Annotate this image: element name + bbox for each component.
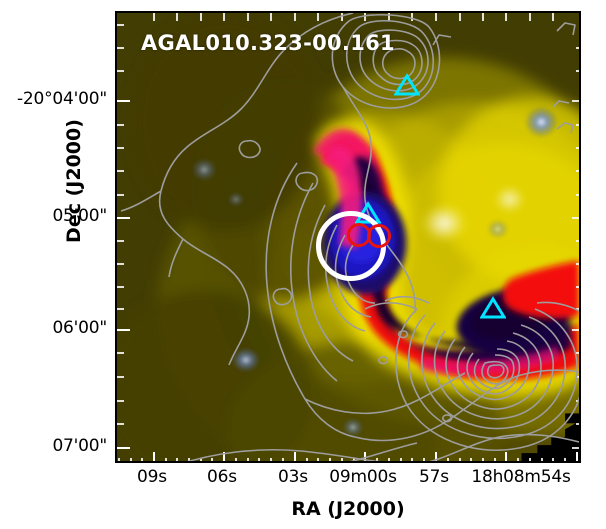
image-plot-area[interactable]: AGAL010.323-00.161 — [115, 11, 581, 463]
x-tick-label-0: 09s — [122, 467, 182, 487]
figure-root: -20°04'00" 05'00" 06'00" 07'00" Dec (J20… — [0, 0, 606, 529]
x-tick-label-3: 09m00s — [313, 467, 413, 487]
y-tick-label-2: 06'00" — [4, 318, 107, 338]
x-tick-label-4: 57s — [404, 467, 464, 487]
x-tick-label-1: 06s — [192, 467, 252, 487]
y-tick-label-1: 05'00" — [4, 206, 107, 226]
cyan-triangle-southwest-icon[interactable] — [480, 296, 506, 320]
y-axis-title: Dec (J2000) — [63, 101, 85, 261]
red-circle-right[interactable] — [367, 224, 391, 248]
y-tick-label-0: -20°04'00" — [4, 89, 107, 109]
y-tick-label-3: 07'00" — [4, 436, 107, 456]
cyan-triangle-north-icon[interactable] — [394, 73, 420, 97]
x-tick-label-5: 18h08m54s — [456, 467, 586, 487]
x-axis-title: RA (J2000) — [115, 498, 581, 520]
